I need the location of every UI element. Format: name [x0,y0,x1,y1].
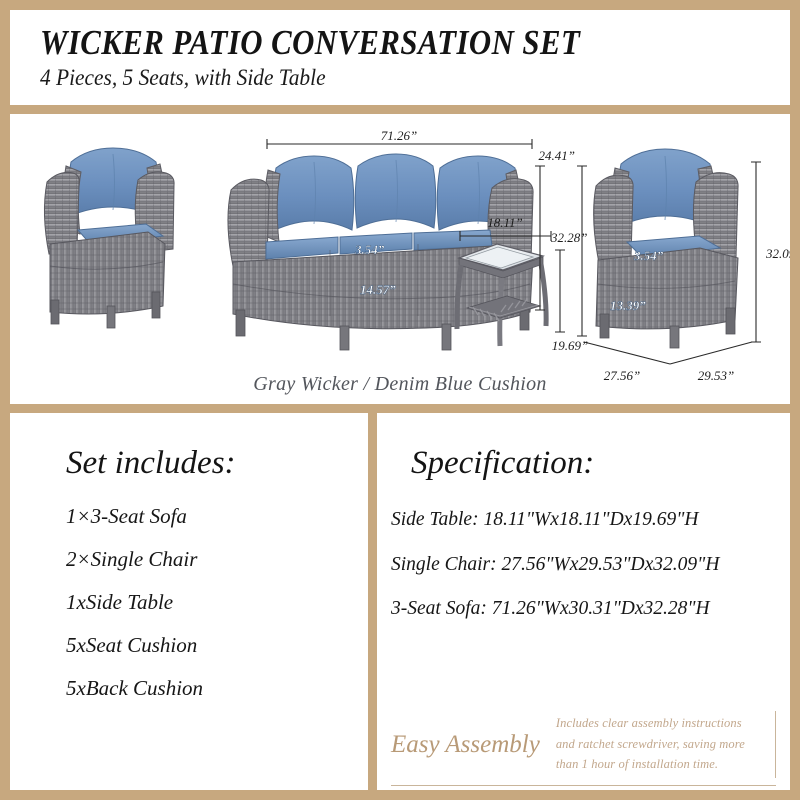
list-item: 5xSeat Cushion [66,635,368,656]
dim-sofa-cushion: 3.54” [354,242,385,257]
easy-assembly-underline [391,785,776,787]
header-panel: WICKER PATIO CONVERSATION SET 4 Pieces, … [10,10,790,105]
page-title: WICKER PATIO CONVERSATION SET [40,25,700,61]
specification-heading: Specification: [377,447,790,480]
easy-assembly-line-1: Includes clear assembly instructions [556,713,765,733]
easy-assembly-line-2: and ratchet screwdriver, saving more [556,734,765,754]
product-illustration-panel: 71.26” 32.28” 18.11” 19.69” 24.41” 32.09… [10,114,790,404]
right-chair-illustration [594,149,738,348]
dim-table-height: 19.69” [552,338,588,353]
list-item: 3-Seat Sofa: 71.26"Wx30.31"Dx32.28"H [391,599,790,619]
dim-chair-back-height: 24.41” [539,148,575,163]
list-item: Single Chair: 27.56"Wx29.53"Dx32.09"H [391,555,790,575]
specification-panel: Specification: Side Table: 18.11"Wx18.11… [377,413,790,790]
product-caption: Gray Wicker / Denim Blue Cushion [10,373,790,396]
dim-table-width: 18.11” [487,215,523,230]
easy-assembly-title: Easy Assembly [391,731,552,759]
dim-sofa-seat-height: 14.57” [360,282,396,297]
list-item: 1xSide Table [66,592,368,613]
dim-chair-cushion: 3.54” [633,248,664,263]
list-item: Side Table: 18.11"Wx18.11"Dx19.69"H [391,510,790,530]
list-item: 5xBack Cushion [66,678,368,699]
set-includes-heading: Set includes: [10,447,368,480]
specification-list: Side Table: 18.11"Wx18.11"Dx19.69"H Sing… [377,510,790,619]
dim-chair-seat-height: 13.39” [610,298,646,313]
easy-assembly-block: Easy Assembly Includes clear assembly in… [391,711,776,778]
dim-sofa-height: 32.28” [550,230,587,245]
bottom-row: Set includes: 1×3-Seat Sofa 2×Single Cha… [10,413,790,790]
easy-assembly-line-3: than 1 hour of installation time. [556,754,765,774]
furniture-diagram: 71.26” 32.28” 18.11” 19.69” 24.41” 32.09… [10,114,790,404]
set-includes-list: 1×3-Seat Sofa 2×Single Chair 1xSide Tabl… [10,506,368,699]
infographic-frame: WICKER PATIO CONVERSATION SET 4 Pieces, … [0,0,800,800]
left-chair-illustration [44,148,174,328]
page-subtitle: 4 Pieces, 5 Seats, with Side Table [40,66,738,90]
list-item: 2×Single Chair [66,549,368,570]
dim-sofa-width: 71.26” [381,128,417,143]
dim-chair-height: 32.09” [765,246,790,261]
list-item: 1×3-Seat Sofa [66,506,368,527]
easy-assembly-body: Includes clear assembly instructions and… [552,711,776,778]
set-includes-panel: Set includes: 1×3-Seat Sofa 2×Single Cha… [10,413,368,790]
